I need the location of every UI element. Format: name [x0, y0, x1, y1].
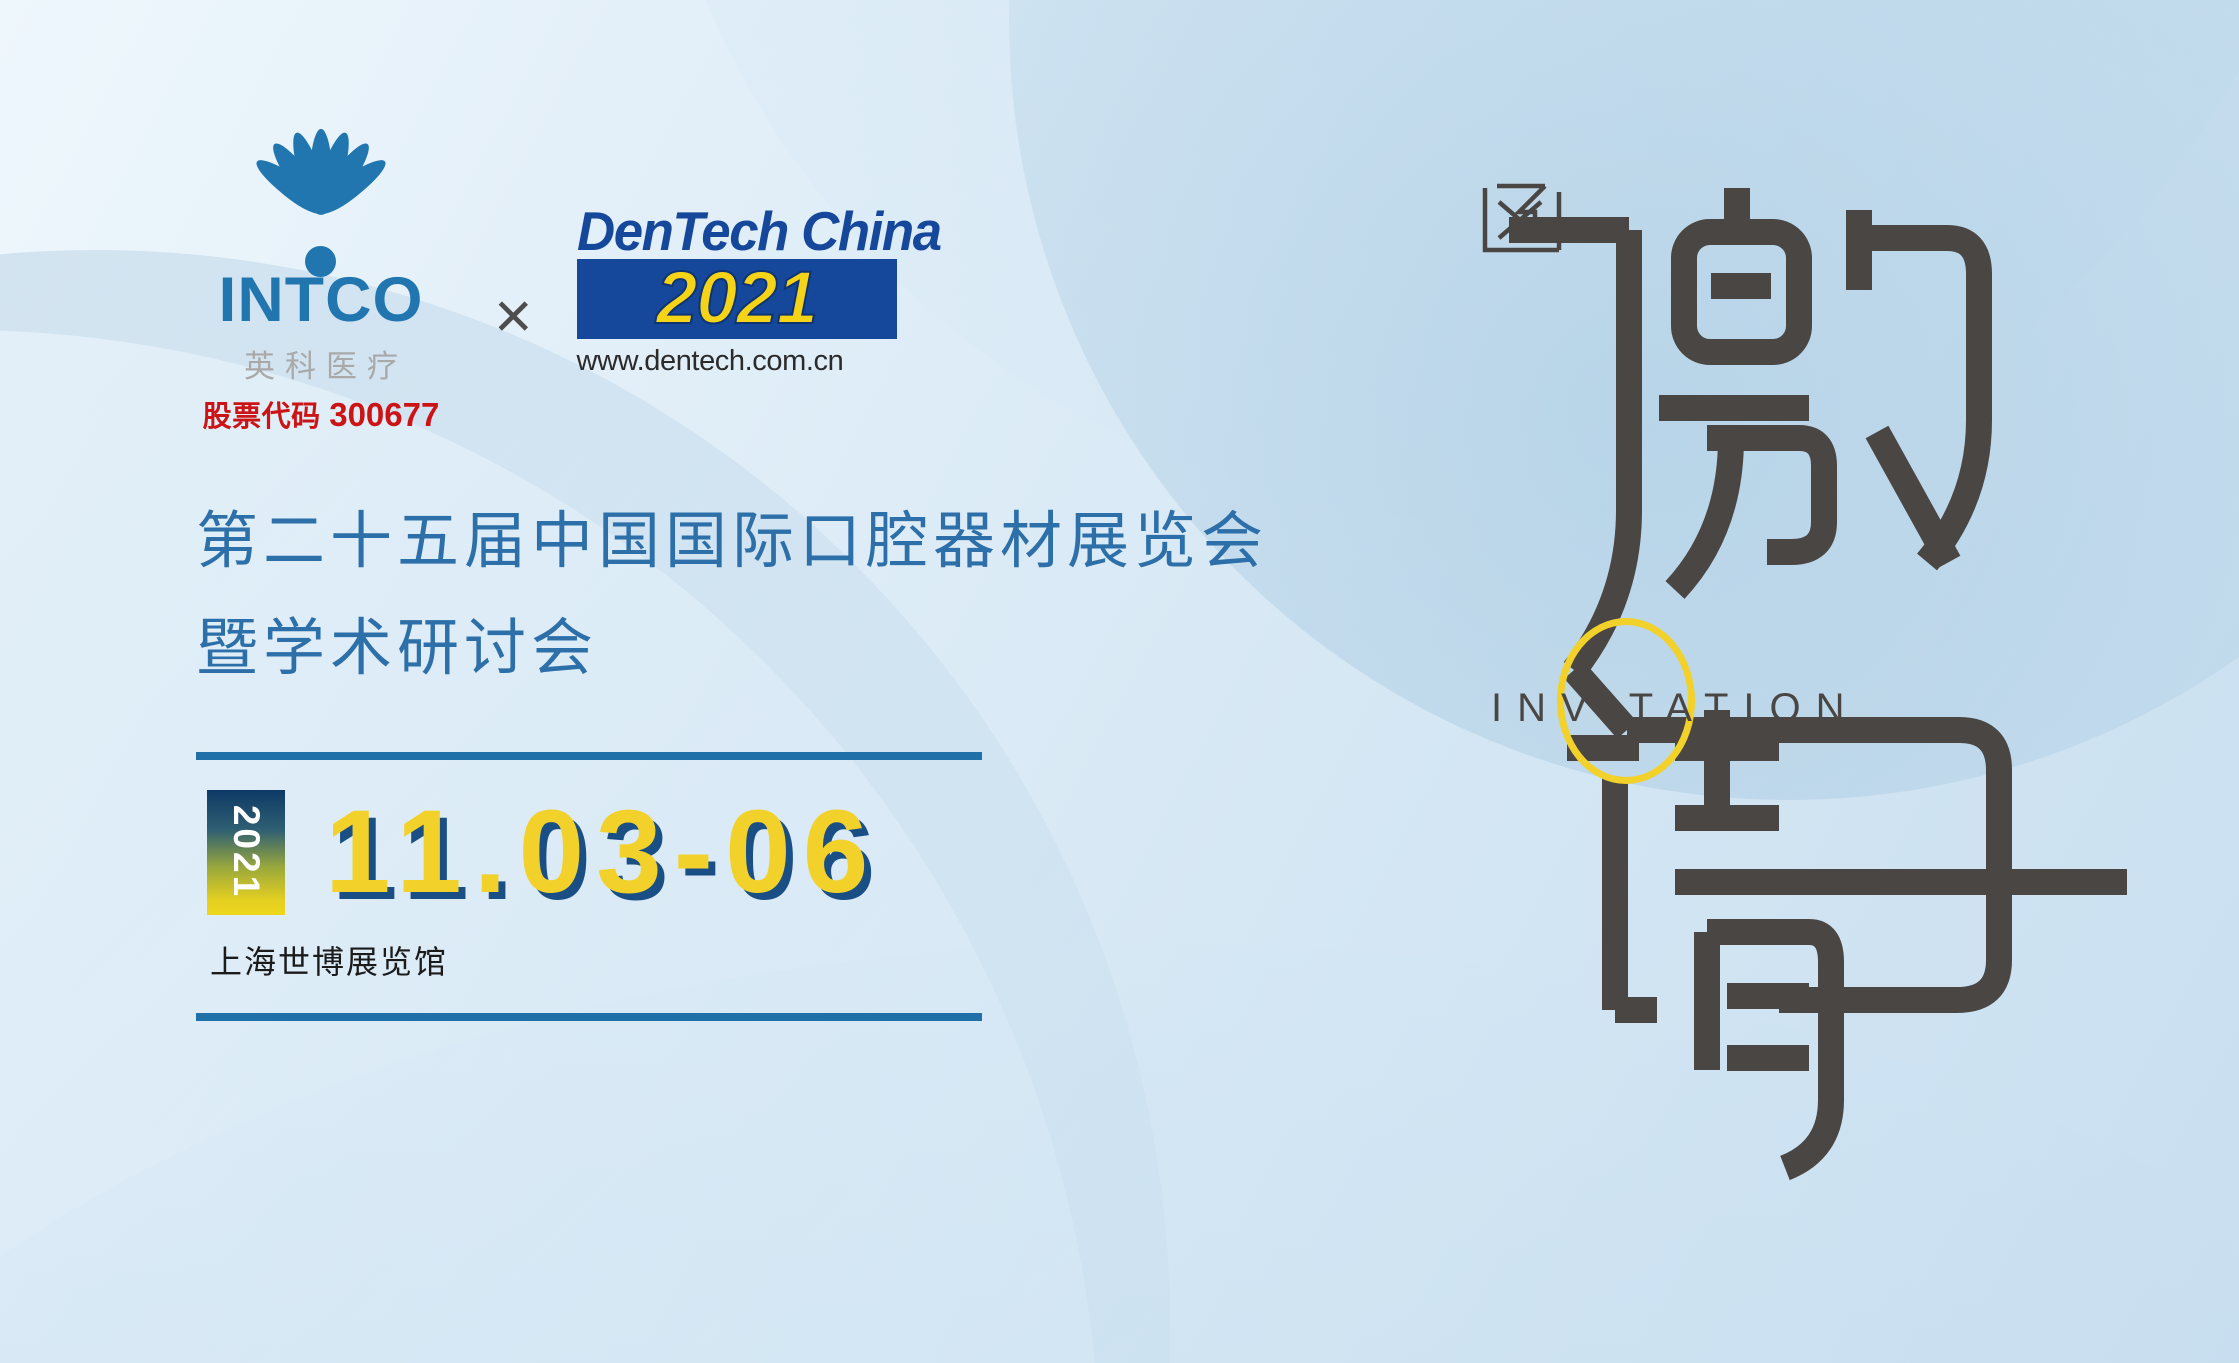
intco-wordmark: INTCO [194, 269, 449, 332]
collaboration-cross-icon: × [494, 282, 533, 348]
dentech-name: DenTech China [577, 205, 884, 257]
sunburst-icon [196, 150, 446, 265]
invitation-poster: INTCO 英科医疗 股票代码 300677 × DenTech China 2… [0, 0, 2239, 1363]
year-badge: 2021 [207, 790, 285, 915]
content-column: INTCO 英科医疗 股票代码 300677 × DenTech China 2… [196, 150, 1376, 1021]
stock-label: 股票代码 [203, 401, 321, 433]
page-title-line-1: 第二十五届中国国际口腔器材展览会 [196, 507, 1376, 576]
page-title-line-2: 暨学术研讨会 [196, 614, 1376, 683]
calligraphy-block: INVITATION [1479, 170, 2179, 1130]
year-badge-label: 2021 [225, 805, 267, 899]
dentech-logo: DenTech China 2021 www.dentech.com.cn [577, 205, 897, 378]
dentech-year: 2021 [587, 264, 887, 332]
intco-logo: INTCO 英科医疗 股票代码 300677 [196, 150, 446, 435]
dentech-url: www.dentech.com.cn [577, 345, 897, 378]
date-row: 2021 11.03-06 [196, 790, 1376, 915]
divider-top [196, 752, 982, 760]
intco-chinese-name: 英科医疗 [196, 341, 446, 386]
logo-row: INTCO 英科医疗 股票代码 300677 × DenTech China 2… [196, 150, 1376, 435]
intco-stock-code: 股票代码 300677 [196, 393, 446, 435]
invitation-label: INVITATION [1491, 686, 1860, 731]
event-date-range: 11.03-06 [325, 793, 880, 911]
dentech-year-box: 2021 [577, 259, 897, 339]
event-venue: 上海世博展览馆 [210, 937, 1376, 983]
divider-bottom [196, 1013, 982, 1021]
calligraphy-char-han [1479, 170, 1565, 256]
stock-number: 300677 [329, 396, 439, 433]
